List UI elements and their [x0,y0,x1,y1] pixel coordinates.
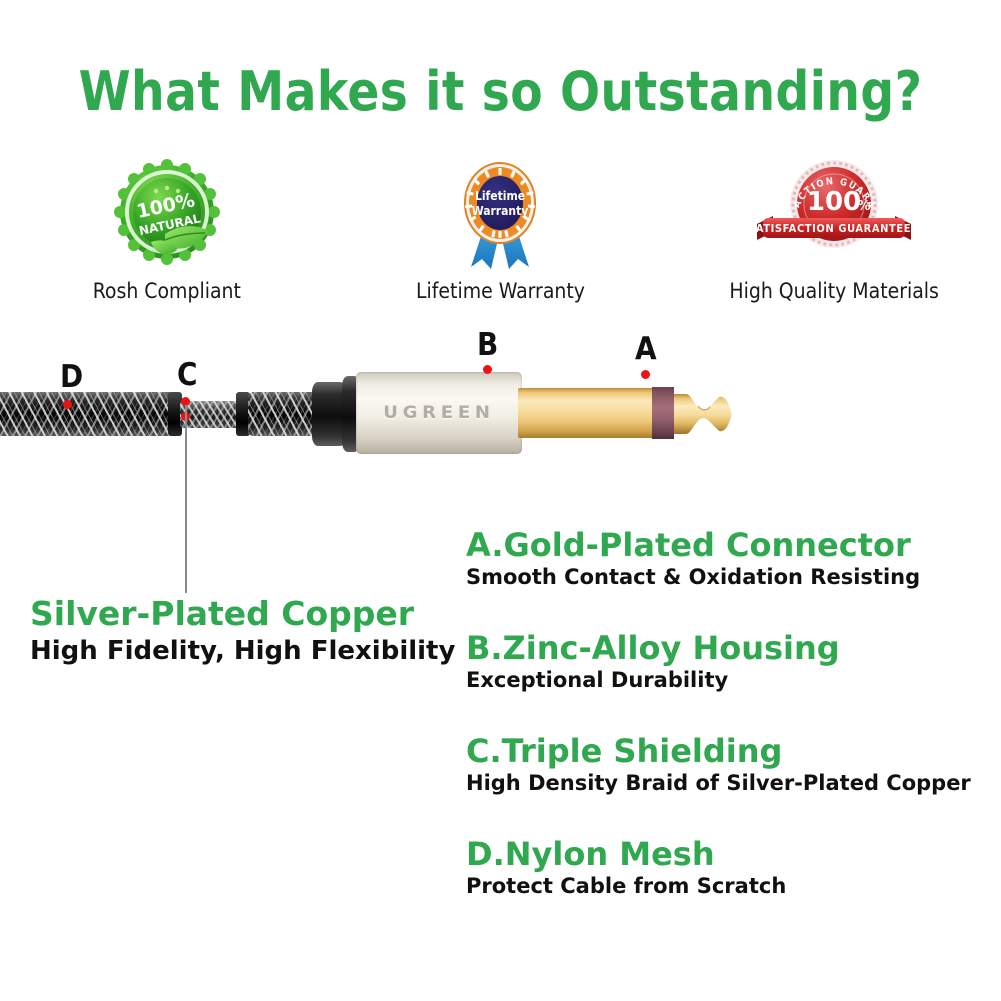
callout-leader-line [185,405,187,593]
natural-100-percent-seal-icon: 100% NATURAL [111,158,223,270]
nylon-mesh-cable-right [248,392,320,436]
feature-title: C.Triple Shielding [466,734,986,769]
nylon-mesh-cable-left [0,392,176,436]
marker-label-d: D [60,362,83,393]
satisfaction-guaranteed-seal-icon: SATISFACTION GUARANTEED 100 % SATISFACTI… [747,158,922,270]
marker-dot-a [641,370,650,379]
product-photo-cable-assembly: UGREEN [0,330,1001,530]
callout-subtext: High Fidelity, High Flexibility [30,637,450,666]
badge-caption: High Quality Materials [729,279,939,303]
feature-title: D.Nylon Mesh [466,837,986,872]
marker-dot-d [63,400,72,409]
feature-item-d: D.Nylon Mesh Protect Cable from Scratch [466,837,986,940]
feature-subtitle: Exceptional Durability [466,668,986,692]
product-infographic: What Makes it so Outstanding? [0,0,1001,1001]
feature-list: A.Gold-Plated Connector Smooth Contact &… [466,528,986,940]
brand-emboss-ugreen: UGREEN [341,403,537,423]
marker-label-b: B [477,330,498,361]
svg-text:%: % [857,199,870,214]
feature-subtitle: Smooth Contact & Oxidation Resisting [466,565,986,589]
feature-title: B.Zinc-Alloy Housing [466,631,986,666]
badge-caption: Rosh Compliant [93,279,241,303]
feature-item-c: C.Triple Shielding High Density Braid of… [466,734,986,837]
zinc-alloy-housing: UGREEN [356,372,522,454]
svg-text:Warranty: Warranty [472,204,529,218]
feature-item-a: A.Gold-Plated Connector Smooth Contact &… [466,528,986,631]
gold-plated-barrel [518,388,656,438]
feature-subtitle: Protect Cable from Scratch [466,874,986,898]
marker-label-c: C [177,360,197,391]
svg-text:100: 100 [807,187,861,217]
gold-plated-tip [672,382,734,444]
page-title: What Makes it so Outstanding? [15,64,986,121]
lifetime-warranty-rosette-icon: Lifetime Warranty [444,158,556,270]
feature-item-b: B.Zinc-Alloy Housing Exceptional Durabil… [466,631,986,734]
callout-silver-plated-copper: Silver-Plated Copper High Fidelity, High… [30,596,450,666]
badge-rosh-compliant: 100% NATURAL Rosh Compliant [7,158,327,303]
badge-lifetime-warranty: Lifetime Warranty Lifetime Warranty [340,158,660,303]
marker-label-a: A [635,334,657,365]
feature-subtitle: High Density Braid of Silver-Plated Copp… [466,771,986,795]
marker-dot-b [483,365,492,374]
insulator-ring [652,387,674,439]
callout-headline: Silver-Plated Copper [30,596,450,633]
badge-high-quality-materials: SATISFACTION GUARANTEED 100 % SATISFACTI… [674,158,994,303]
badge-caption: Lifetime Warranty [416,279,585,303]
feature-title: A.Gold-Plated Connector [466,528,986,563]
trust-badge-row: 100% NATURAL Rosh Compliant [0,158,1001,313]
svg-text:SATISFACTION GUARANTEED: SATISFACTION GUARANTEED [748,222,920,235]
svg-text:Lifetime: Lifetime [475,189,525,203]
